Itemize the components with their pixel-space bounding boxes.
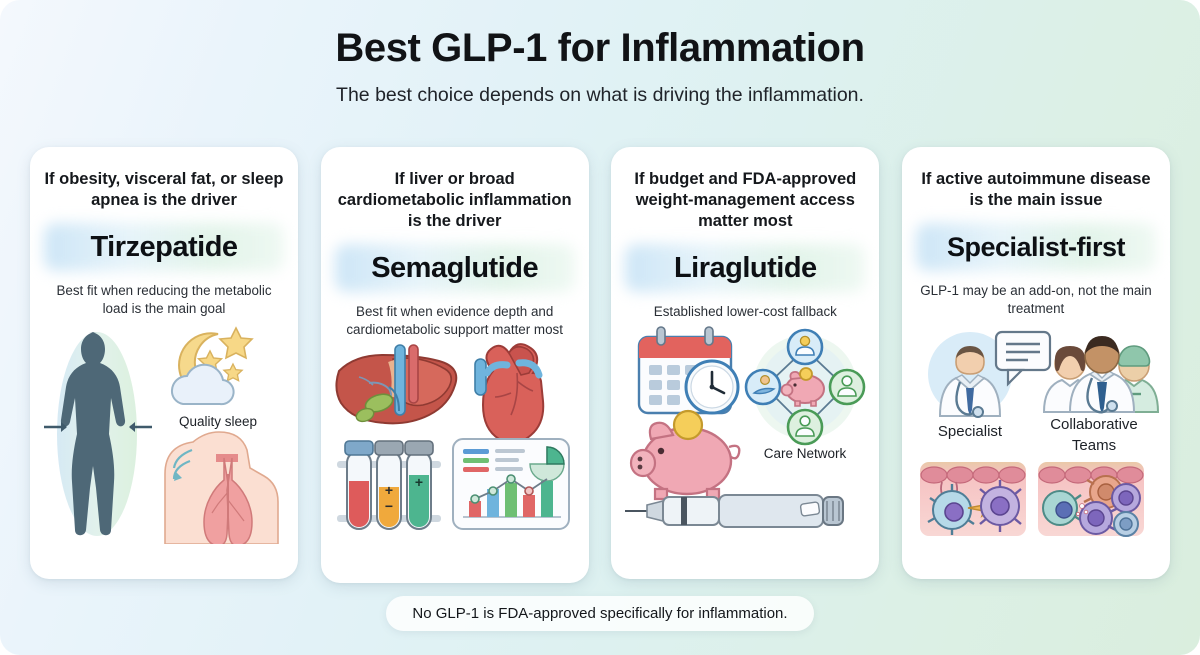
network-node-right <box>830 370 864 404</box>
card-description: Best fit when reducing the metabolic loa… <box>40 282 288 318</box>
liver-icon <box>336 345 456 424</box>
doctor-avatar-icon <box>928 332 1050 417</box>
heart-icon <box>475 344 543 443</box>
card-illustration: + − + <box>331 345 579 573</box>
footer-note-pill: No GLP-1 is FDA-approved specifically fo… <box>386 596 813 631</box>
caption-collaborative-teams-line1: Collaborative <box>1050 416 1138 433</box>
card-description: Established lower-cost fallback <box>648 303 843 321</box>
card-description: Best fit when evidence depth and cardiom… <box>331 303 579 339</box>
drug-name-wrap: Liraglutide <box>621 242 869 294</box>
caption-quality-sleep: Quality sleep <box>179 414 257 429</box>
airway-lungs-icon <box>165 432 278 544</box>
card-condition: If obesity, visceral fat, or sleep apnea… <box>44 169 284 211</box>
svg-text:+: + <box>415 474 423 490</box>
card-description: GLP-1 may be an add-on, not the main tre… <box>912 282 1160 318</box>
header: Best GLP-1 for Inflammation The best cho… <box>0 26 1200 107</box>
network-node-top <box>788 330 822 364</box>
drug-name: Tirzepatide <box>90 231 237 264</box>
card-tirzepatide[interactable]: If obesity, visceral fat, or sleep apnea… <box>30 147 298 579</box>
infographic-canvas: Best GLP-1 for Inflammation The best cho… <box>0 0 1200 655</box>
page-title: Best GLP-1 for Inflammation <box>0 26 1200 70</box>
svg-text:+: + <box>385 482 393 498</box>
drug-name: Specialist-first <box>947 232 1125 263</box>
card-semaglutide[interactable]: If liver or broad cardiometabolic inflam… <box>321 147 589 583</box>
card-condition: If active autoimmune disease is the main… <box>916 169 1156 211</box>
caption-specialist: Specialist <box>938 423 1003 440</box>
page-subtitle: The best choice depends on what is drivi… <box>0 84 1200 107</box>
network-node-left <box>746 370 780 404</box>
card-row: If obesity, visceral fat, or sleep apnea… <box>30 147 1170 583</box>
card-specialist-first[interactable]: If active autoimmune disease is the main… <box>902 147 1170 579</box>
footer: No GLP-1 is FDA-approved specifically fo… <box>0 596 1200 631</box>
body-silhouette-icon <box>57 332 137 536</box>
drug-name-wrap: Semaglutide <box>331 242 579 294</box>
card-condition: If liver or broad cardiometabolic inflam… <box>335 169 575 232</box>
drug-name-wrap: Specialist-first <box>912 221 1160 273</box>
moon-stars-icon <box>172 328 252 404</box>
immune-cells-panel-1-icon <box>920 462 1026 536</box>
caption-care-network: Care Network <box>764 446 847 461</box>
drug-name: Liraglutide <box>674 252 817 285</box>
caption-collaborative-teams-line2: Teams <box>1072 437 1116 454</box>
analytics-chart-icon <box>453 439 569 529</box>
piggy-bank-icon <box>631 411 739 499</box>
test-tubes-icon: + − + <box>337 441 441 529</box>
care-team-icon <box>1044 336 1158 414</box>
card-condition: If budget and FDA-approved weight-manage… <box>625 169 865 232</box>
drug-name: Semaglutide <box>371 252 538 285</box>
network-node-bottom <box>788 410 822 444</box>
calendar-clock-icon <box>639 327 738 413</box>
care-network-icon <box>746 330 864 444</box>
svg-text:−: − <box>385 498 393 514</box>
card-illustration: Quality sleep <box>40 324 288 569</box>
card-illustration: Care Network <box>621 327 869 569</box>
drug-name-wrap: Tirzepatide <box>40 221 288 273</box>
card-liraglutide[interactable]: If budget and FDA-approved weight-manage… <box>611 147 879 579</box>
card-illustration: Specialist <box>912 324 1160 569</box>
immune-cells-panel-2-icon <box>1038 462 1144 536</box>
